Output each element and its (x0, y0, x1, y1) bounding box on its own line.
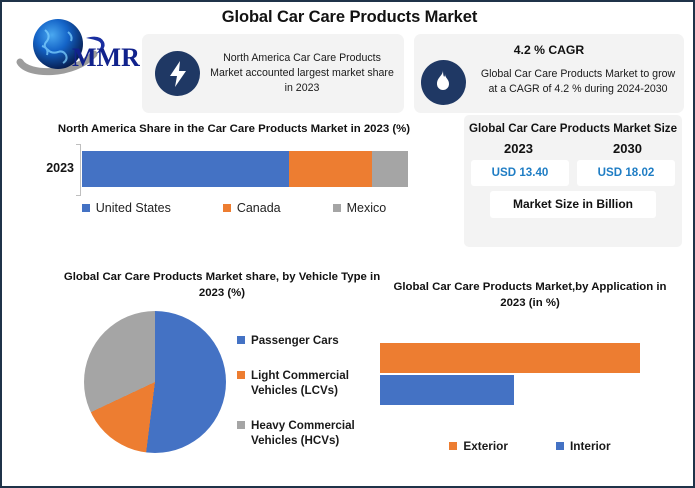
legend-swatch-passenger-cars (237, 336, 245, 344)
mmr-logo-icon: MMR (12, 16, 140, 80)
legend-label-exterior: Exterior (463, 439, 508, 453)
market-size-years: 2023 2030 (464, 141, 682, 156)
pie-graphic (84, 311, 226, 453)
market-size-panel: Global Car Care Products Market Size 202… (464, 115, 682, 247)
legend-swatch-lcv (237, 371, 245, 379)
chart-vehicle-type-plot: Passenger Cars Light Commercial Vehicles… (62, 311, 382, 476)
y-axis-line (80, 144, 81, 196)
market-size-year-2030: 2030 (573, 141, 682, 156)
market-size-value-2023: USD 13.40 (471, 160, 569, 186)
legend-swatch-exterior (449, 442, 457, 450)
bar-segment-mexico (372, 151, 408, 187)
market-size-unit-label: Market Size in Billion (490, 191, 656, 218)
legend-item-united-states: United States (82, 201, 171, 215)
bar-segment-canada (289, 151, 372, 187)
chart-na-share-plot: 2023 (24, 144, 444, 196)
legend-label-united-states: United States (96, 201, 171, 215)
chart-application-legend: Exterior Interior (380, 439, 680, 453)
legend-item-interior: Interior (556, 439, 611, 453)
legend-swatch-canada (223, 204, 231, 212)
legend-item-passenger-cars: Passenger Cars (237, 333, 382, 348)
badge-north-america-text: North America Car Care Products Market a… (200, 51, 404, 96)
legend-swatch-mexico (333, 204, 341, 212)
legend-label-interior: Interior (570, 439, 611, 453)
chart-vehicle-type-title: Global Car Care Products Market share, b… (62, 270, 382, 301)
legend-item-exterior: Exterior (449, 439, 508, 453)
legend-swatch-hcv (237, 421, 245, 429)
badge-cagr-text: Global Car Care Products Market to grow … (472, 67, 684, 97)
chart-na-share: North America Share in the Car Care Prod… (24, 122, 444, 232)
chart-application-title: Global Car Care Products Market,by Appli… (380, 280, 680, 311)
legend-item-hcv: Heavy Commercial Vehicles (HCVs) (237, 418, 382, 448)
market-size-values: USD 13.40 USD 18.02 (464, 160, 682, 186)
lightning-bolt-icon (155, 51, 200, 96)
chart-na-share-legend: United States Canada Mexico (24, 201, 444, 215)
category-label-2023: 2023 (24, 161, 74, 175)
legend-label-canada: Canada (237, 201, 281, 215)
chart-application-plot (380, 343, 680, 411)
legend-item-mexico: Mexico (333, 201, 387, 215)
legend-item-canada: Canada (223, 201, 281, 215)
svg-text:MMR: MMR (72, 43, 140, 72)
chart-application: Global Car Care Products Market,by Appli… (380, 280, 680, 480)
infographic-frame: Global Car Care Products Market MMR N (0, 0, 695, 488)
lightning-bolt-glyph (166, 60, 190, 88)
market-size-title: Global Car Care Products Market Size (464, 121, 682, 136)
chart-vehicle-type-legend: Passenger Cars Light Commercial Vehicles… (237, 333, 382, 468)
badge-cagr: 4.2 % CAGR Global Car Care Products Mark… (414, 34, 684, 113)
stacked-bar (82, 151, 408, 187)
legend-label-lcv: Light Commercial Vehicles (LCVs) (251, 368, 382, 398)
mmr-logo: MMR (12, 16, 140, 80)
legend-swatch-interior (556, 442, 564, 450)
flame-icon (421, 60, 466, 105)
market-size-value-2030: USD 18.02 (577, 160, 675, 186)
y-axis-tick-top (76, 144, 81, 145)
chart-vehicle-type: Global Car Care Products Market share, b… (62, 270, 382, 485)
legend-swatch-united-states (82, 204, 90, 212)
legend-label-passenger-cars: Passenger Cars (251, 333, 339, 348)
cagr-heading: 4.2 % CAGR (514, 43, 584, 57)
legend-item-lcv: Light Commercial Vehicles (LCVs) (237, 368, 382, 398)
bar-segment-united-states (82, 151, 289, 187)
legend-label-hcv: Heavy Commercial Vehicles (HCVs) (251, 418, 382, 448)
flame-glyph (433, 69, 453, 95)
badge-north-america: North America Car Care Products Market a… (142, 34, 404, 113)
legend-label-mexico: Mexico (347, 201, 387, 215)
chart-na-share-title: North America Share in the Car Care Prod… (24, 122, 444, 138)
market-size-year-2023: 2023 (464, 141, 573, 156)
y-axis-tick-bottom (76, 195, 81, 196)
bar-exterior (380, 343, 640, 373)
bar-interior (380, 375, 514, 405)
